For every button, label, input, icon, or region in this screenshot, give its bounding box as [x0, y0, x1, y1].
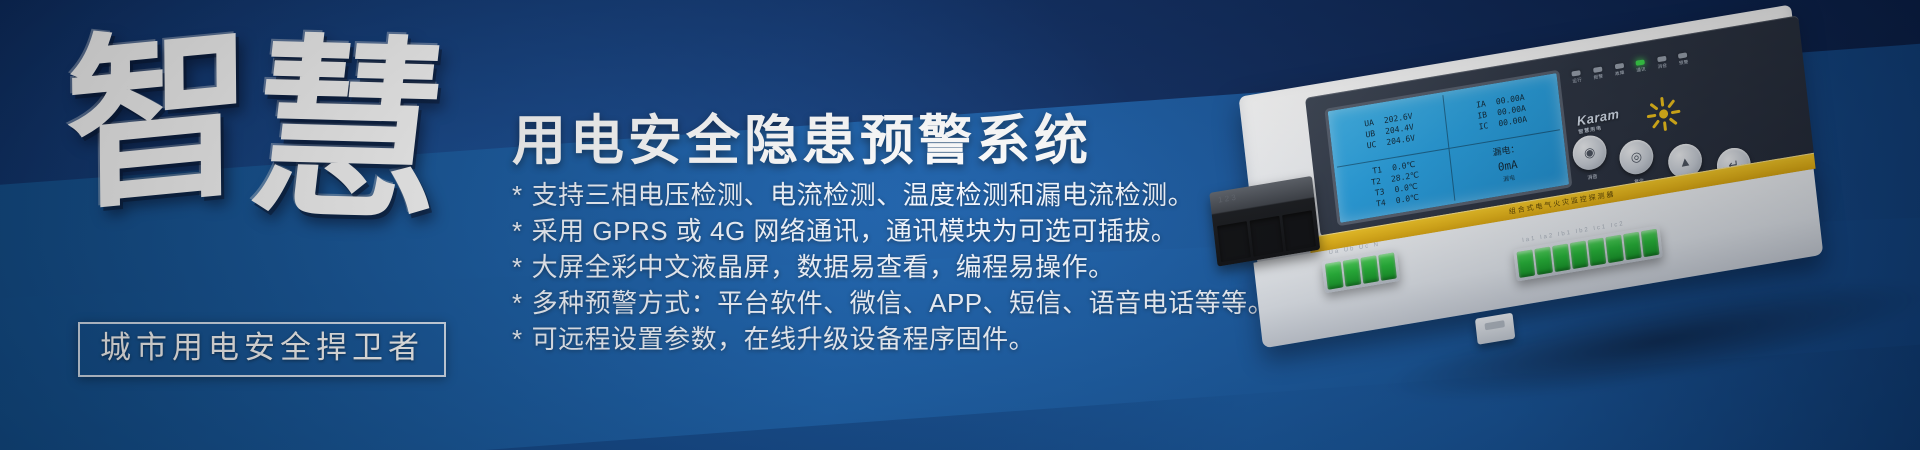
product-photo: UA202.6V UB204.4V UC204.6V IA00.00A IB00…	[1090, 0, 1920, 450]
promo-banner: 智慧 城市用电安全捍卫者 用电安全隐患预警系统 *支持三相电压检测、电流检测、温…	[0, 0, 1920, 450]
triangle-up-icon: ▲	[1678, 153, 1692, 170]
lcd-uc-label: UC	[1366, 138, 1383, 152]
led-label: 运行	[1572, 77, 1582, 85]
status-led-bar: 运行 报警 故障 通讯 消音 预警	[1571, 52, 1689, 84]
lcd-ic-label: IC	[1478, 119, 1495, 133]
calligraphy-char-1: 智	[65, 18, 247, 220]
terminal-pin	[1343, 258, 1362, 287]
calligraphy-title: 智慧	[55, 13, 432, 292]
black-terminal-label: 1 2 3	[1218, 193, 1237, 205]
terminal-pin	[1325, 261, 1344, 290]
led-label: 故障	[1615, 70, 1625, 78]
led-indicator-icon	[1614, 63, 1623, 69]
terminal-pin	[1360, 255, 1379, 284]
led-indicator-icon	[1593, 67, 1602, 73]
tagline-box: 城市用电安全捍卫者	[78, 322, 446, 377]
terminal-pin	[1605, 235, 1624, 264]
terminal-pin	[1588, 238, 1607, 267]
led-indicator-icon	[1657, 56, 1666, 62]
page-title: 用电安全隐患预警系统	[512, 96, 1092, 175]
bullet-marker-icon: *	[512, 180, 523, 210]
led-indicator-icon	[1572, 70, 1581, 76]
lcd-t4-value: 0.0℃	[1395, 192, 1419, 207]
reset-icon: ◎	[1630, 148, 1643, 166]
tagline-text: 城市用电安全捍卫者	[100, 331, 424, 365]
terminal-pin	[1217, 221, 1251, 262]
lcd-leakage-unit: 漏电	[1503, 172, 1516, 185]
mute-button-label: 消音	[1587, 173, 1598, 182]
reset-button[interactable]: ◎复位	[1618, 137, 1655, 176]
status-badge: 报警	[1593, 66, 1604, 81]
terminal-pin	[1282, 210, 1316, 251]
list-item-label: 采用 GPRS 或 4G 网络通讯，通讯模块为可选可插拔。	[532, 216, 1178, 246]
terminal-pin	[1517, 250, 1536, 279]
terminal-pin	[1623, 232, 1642, 261]
mute-button[interactable]: ◉消音	[1571, 133, 1608, 172]
terminal-pin	[1250, 216, 1284, 257]
status-badge: 通讯	[1635, 59, 1646, 74]
terminal-pin	[1641, 229, 1660, 258]
bullet-marker-icon: *	[512, 324, 523, 354]
bullet-marker-icon: *	[512, 216, 523, 246]
led-label: 消音	[1657, 63, 1667, 71]
status-badge: 运行	[1571, 70, 1582, 85]
mute-icon: ◉	[1583, 144, 1596, 162]
list-item-label: 可远程设置参数，在线升级设备程序固件。	[532, 324, 1036, 354]
led-indicator-icon	[1678, 52, 1687, 58]
status-badge: 故障	[1614, 63, 1625, 78]
status-badge: 预警	[1678, 52, 1689, 67]
terminal-pin	[1534, 247, 1553, 276]
bullet-marker-icon: *	[512, 252, 523, 282]
led-label: 预警	[1679, 59, 1689, 67]
list-item-label: 大屏全彩中文液晶屏，数据易查看，编程易操作。	[532, 252, 1115, 282]
led-label: 通讯	[1636, 66, 1646, 74]
status-badge: 消音	[1657, 56, 1668, 71]
terminal-pin	[1570, 241, 1589, 270]
terminal-pin	[1552, 244, 1571, 273]
bullet-marker-icon: *	[512, 288, 523, 318]
led-label: 报警	[1593, 73, 1603, 81]
lcd-t4-label: T4	[1376, 196, 1393, 210]
lcd-leakage-value: 0mA	[1497, 159, 1518, 173]
terminal-pin	[1378, 252, 1397, 281]
led-indicator-icon	[1636, 59, 1645, 65]
calligraphy-char-2: 慧	[240, 32, 449, 230]
